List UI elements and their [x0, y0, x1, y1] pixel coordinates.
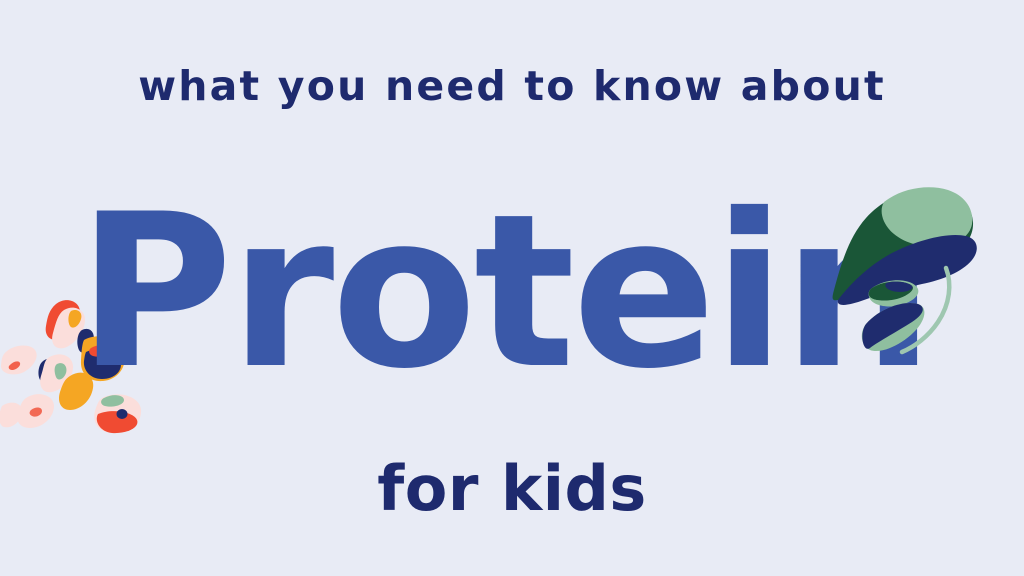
headline-container: Protein — [0, 186, 1024, 398]
bean-pink-4-accent — [30, 407, 42, 416]
eyebrow-text: what you need to know about — [0, 66, 1024, 107]
bean-pink-4 — [17, 394, 54, 428]
poster-canvas: what you need to know about Protein for … — [0, 0, 1024, 576]
page-title: Protein — [77, 186, 930, 398]
bean-pink-5 — [0, 403, 22, 428]
subline-text: for kids — [0, 458, 1024, 520]
